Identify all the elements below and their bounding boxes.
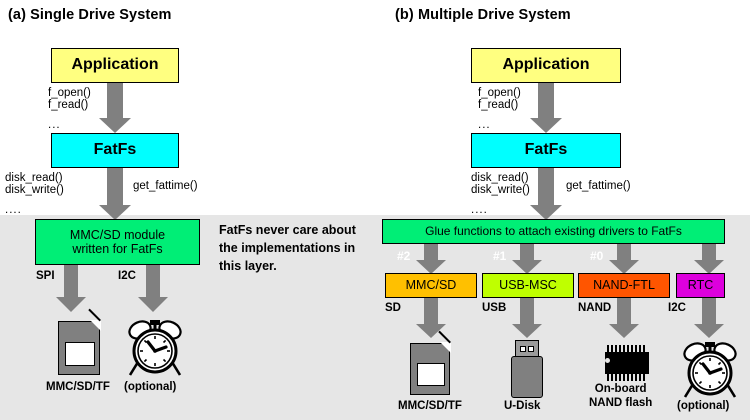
panel-b-device-caption-0: MMC/SD/TF <box>398 400 462 412</box>
panel-a-module-box: MMC/SD module written for FatFs <box>35 219 200 265</box>
panel-b-api-app-to-fatfs-dots: ... <box>478 119 491 131</box>
panel-a-application-box: Application <box>51 48 179 83</box>
panel-b-driver-box-mmcsd: MMC/SD <box>385 273 477 298</box>
panel-b-arrow-glue-to-rtc <box>694 244 724 274</box>
usb-stick-icon <box>508 340 546 398</box>
panel-b-api-fatfs-to-disk: disk_read() disk_write() <box>471 172 530 196</box>
panel-b-drive-number-0: #2 <box>397 249 410 263</box>
panel-b-arrow-rtc-to-device <box>694 298 724 338</box>
sd-card-icon <box>410 343 450 395</box>
panel-a-rtc-caption: (optional) <box>124 381 176 393</box>
panel-a-arrow-fatfs-to-module <box>99 168 131 220</box>
panel-a-bus-i2c-label: I2C <box>118 270 136 282</box>
panel-b-driver-box-nandftl: NAND-FTL <box>578 273 670 298</box>
panel-b-title: (b) Multiple Drive System <box>395 7 571 23</box>
sd-card-icon <box>58 321 100 375</box>
panel-b-arrow-nandftl-to-device <box>609 298 639 338</box>
panel-b-arrow-glue-to-usbmsc <box>512 244 542 274</box>
panel-b-drive-number-2: #0 <box>590 249 603 263</box>
panel-a-api-fatfs-to-disk: disk_read() disk_write() <box>5 172 64 196</box>
panel-a-sd-caption: MMC/SD/TF <box>46 381 110 393</box>
nand-chip-icon <box>603 345 651 381</box>
panel-b-bus-label-usb: USB <box>482 302 506 314</box>
panel-b-arrow-glue-to-mmcsd <box>416 244 446 274</box>
panel-a-api-get-fattime: get_fattime() <box>133 180 198 192</box>
panel-a-title: (a) Single Drive System <box>8 7 171 23</box>
panel-a-arrow-spi <box>56 265 86 312</box>
panel-a-api-app-to-fatfs-dots: ... <box>48 119 61 131</box>
panel-a-bus-spi-label: SPI <box>36 270 55 282</box>
panel-b-device-caption-3: (optional) <box>677 400 729 412</box>
panel-a-fatfs-box: FatFs <box>51 133 179 168</box>
panel-b-application-box: Application <box>471 48 621 83</box>
panel-b-driver-box-usbmsc: USB-MSC <box>482 273 574 298</box>
panel-b-device-caption-1: U-Disk <box>504 400 540 412</box>
panel-b-api-app-to-fatfs: f_open() f_read() <box>478 87 521 111</box>
panel-b-bus-label-nand: NAND <box>578 302 611 314</box>
panel-b-driver-box-rtc: RTC <box>676 273 725 298</box>
panel-b-api-get-fattime: get_fattime() <box>566 180 631 192</box>
panel-b-device-caption-2: On-board NAND flash <box>589 382 652 411</box>
alarm-clock-icon <box>681 340 739 400</box>
panel-a-arrow-i2c <box>138 265 168 312</box>
diagram-canvas: (a) Single Drive System Application f_op… <box>0 0 750 420</box>
panel-b-bus-label-i2c: I2C <box>668 302 686 314</box>
alarm-clock-icon <box>126 318 184 378</box>
panel-b-bus-label-sd: SD <box>385 302 401 314</box>
panel-b-arrow-glue-to-nandftl <box>609 244 639 274</box>
panel-b-drive-number-1: #1 <box>493 249 506 263</box>
panel-b-api-fatfs-to-disk-dots: .... <box>471 204 488 216</box>
panel-b-glue-box: Glue functions to attach existing driver… <box>382 219 725 244</box>
panel-b-arrow-usbmsc-to-device <box>512 298 542 338</box>
panel-a-api-app-to-fatfs: f_open() f_read() <box>48 87 91 111</box>
panel-b-fatfs-box: FatFs <box>471 133 621 168</box>
panel-a-arrow-app-to-fatfs <box>99 83 131 133</box>
panel-b-arrow-app-to-fatfs <box>530 83 562 133</box>
implementation-note: FatFs never care about the implementatio… <box>219 221 356 275</box>
panel-b-arrow-fatfs-to-glue <box>530 168 562 220</box>
panel-a-api-fatfs-to-disk-dots: .... <box>5 204 22 216</box>
